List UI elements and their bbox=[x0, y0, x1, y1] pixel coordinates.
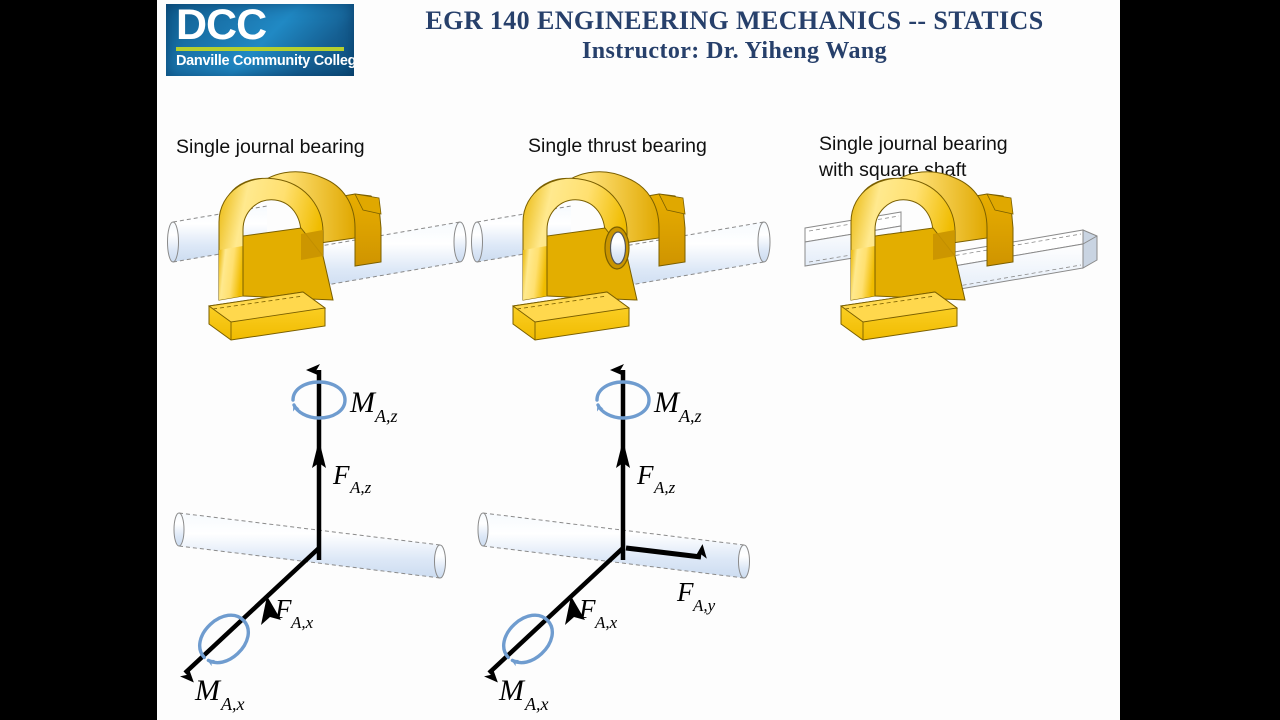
diagram-artwork: F A,z M A,z F A,x bbox=[157, 0, 1120, 720]
letterbox-left bbox=[0, 0, 157, 720]
slide-viewport: DCC Danville Community College EGR 140 E… bbox=[0, 0, 1280, 720]
label-M-Ax-sub: A,x bbox=[524, 694, 548, 714]
reaction-force-F-Ax bbox=[489, 548, 623, 673]
label-M-Ax: M bbox=[498, 674, 526, 707]
label-M-Az: M bbox=[653, 386, 681, 419]
bearing-support-journal-square bbox=[841, 172, 1013, 340]
label-F-Ax-sub: A,x bbox=[594, 613, 618, 632]
label-F-Az: F bbox=[636, 460, 654, 490]
slide-canvas: DCC Danville Community College EGR 140 E… bbox=[157, 0, 1120, 720]
label-F-Ax: F bbox=[578, 594, 596, 624]
label-F-Ay-sub: A,y bbox=[692, 596, 716, 615]
label-M-Az-sub: A,z bbox=[678, 406, 702, 426]
label-F-Az-sub: A,z bbox=[349, 478, 372, 497]
label-F-Ax: F bbox=[274, 594, 292, 624]
label-F-Az-sub: A,z bbox=[653, 478, 676, 497]
letterbox-right bbox=[1120, 0, 1280, 720]
figure-journal-bearing: F A,z M A,z F A,x bbox=[168, 172, 467, 714]
reaction-force-F-Ax bbox=[185, 548, 319, 673]
label-M-Az-sub: A,z bbox=[374, 406, 398, 426]
label-M-Ax: M bbox=[194, 674, 222, 707]
label-F-Az: F bbox=[332, 460, 350, 490]
label-F-Ay: F bbox=[676, 577, 694, 607]
figure-thrust-bearing: F A,z M A,z F A,x M bbox=[472, 172, 771, 714]
thrust-collar bbox=[605, 227, 629, 269]
bearing-support-thrust bbox=[513, 172, 685, 340]
label-M-Az: M bbox=[349, 386, 377, 419]
bearing-support-journal bbox=[209, 172, 381, 340]
fbd-shaft-thrust bbox=[478, 513, 750, 578]
label-M-Ax-sub: A,x bbox=[220, 694, 244, 714]
figure-journal-bearing-square-shaft bbox=[805, 172, 1097, 340]
label-F-Ax-sub: A,x bbox=[290, 613, 314, 632]
fbd-shaft-journal bbox=[174, 513, 446, 578]
